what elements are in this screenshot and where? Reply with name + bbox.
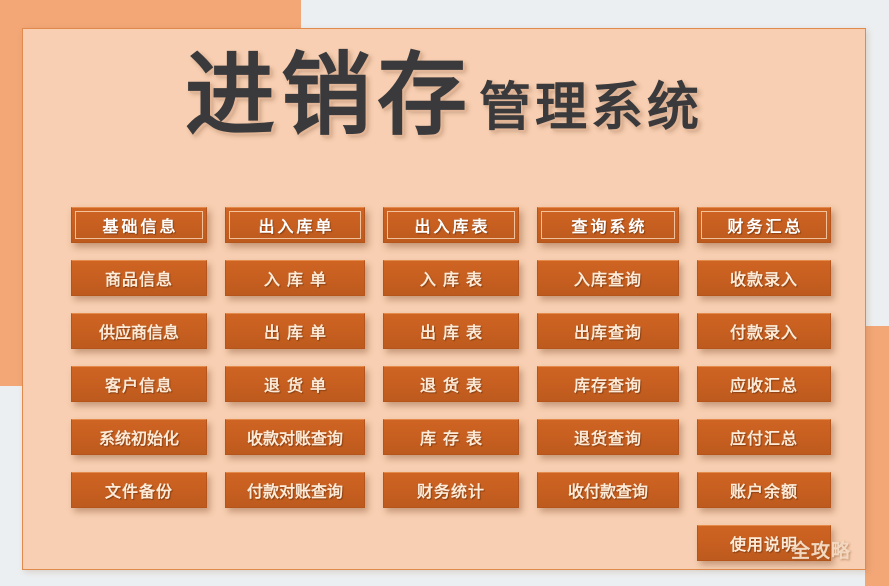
menu-item-button[interactable]: 收款对账查询 xyxy=(225,419,365,455)
menu-header-button[interactable]: 出入库表 xyxy=(383,207,519,243)
menu-item-button[interactable]: 客户信息 xyxy=(71,366,207,402)
menu-column-3: 出入库表入库表出库表退货表库存表财务统计 xyxy=(383,207,519,578)
watermark: 全攻略 xyxy=(791,536,851,563)
menu-item-button[interactable]: 系统初始化 xyxy=(71,419,207,455)
menu-item-button[interactable]: 收付款查询 xyxy=(537,472,679,508)
menu-column-5: 财务汇总收款录入付款录入应收汇总应付汇总账户余额使用说明 xyxy=(697,207,831,578)
menu-grid: 基础信息商品信息供应商信息客户信息系统初始化文件备份出入库单入库单出库单退货单收… xyxy=(71,207,831,578)
menu-item-button[interactable]: 应付汇总 xyxy=(697,419,831,455)
menu-item-button[interactable]: 退货查询 xyxy=(537,419,679,455)
menu-header-button[interactable]: 查询系统 xyxy=(537,207,679,243)
menu-column-2: 出入库单入库单出库单退货单收款对账查询付款对账查询 xyxy=(225,207,365,578)
page-title-sub: 管理系统 xyxy=(479,82,703,141)
menu-item-button[interactable]: 入库表 xyxy=(383,260,519,296)
menu-item-button[interactable]: 应收汇总 xyxy=(697,366,831,402)
menu-header-button[interactable]: 财务汇总 xyxy=(697,207,831,243)
menu-column-4: 查询系统入库查询出库查询库存查询退货查询收付款查询 xyxy=(537,207,679,578)
menu-item-button[interactable]: 出库查询 xyxy=(537,313,679,349)
menu-item-button[interactable]: 账户余额 xyxy=(697,472,831,508)
app-root: 进销存 管理系统 基础信息商品信息供应商信息客户信息系统初始化文件备份出入库单入… xyxy=(0,0,889,586)
page-title: 进销存 管理系统 xyxy=(23,51,865,141)
menu-item-button[interactable]: 商品信息 xyxy=(71,260,207,296)
menu-item-button[interactable]: 文件备份 xyxy=(71,472,207,508)
menu-item-button[interactable]: 付款对账查询 xyxy=(225,472,365,508)
menu-item-button[interactable]: 财务统计 xyxy=(383,472,519,508)
menu-column-1: 基础信息商品信息供应商信息客户信息系统初始化文件备份 xyxy=(71,207,207,578)
menu-item-button[interactable]: 出库单 xyxy=(225,313,365,349)
menu-item-button[interactable]: 付款录入 xyxy=(697,313,831,349)
menu-item-button[interactable]: 入库查询 xyxy=(537,260,679,296)
decor-band-left xyxy=(0,0,23,386)
menu-item-button[interactable]: 收款录入 xyxy=(697,260,831,296)
menu-item-button[interactable]: 入库单 xyxy=(225,260,365,296)
page-title-main: 进销存 xyxy=(185,51,473,141)
menu-item-button[interactable]: 库存表 xyxy=(383,419,519,455)
decor-band-top-left xyxy=(0,0,301,29)
menu-item-button[interactable]: 出库表 xyxy=(383,313,519,349)
menu-header-button[interactable]: 出入库单 xyxy=(225,207,365,243)
menu-item-button[interactable]: 库存查询 xyxy=(537,366,679,402)
menu-item-button[interactable]: 退货表 xyxy=(383,366,519,402)
menu-header-button[interactable]: 基础信息 xyxy=(71,207,207,243)
menu-item-button[interactable]: 退货单 xyxy=(225,366,365,402)
main-panel: 进销存 管理系统 基础信息商品信息供应商信息客户信息系统初始化文件备份出入库单入… xyxy=(22,28,866,570)
menu-item-button[interactable]: 供应商信息 xyxy=(71,313,207,349)
decor-band-right xyxy=(865,326,889,586)
